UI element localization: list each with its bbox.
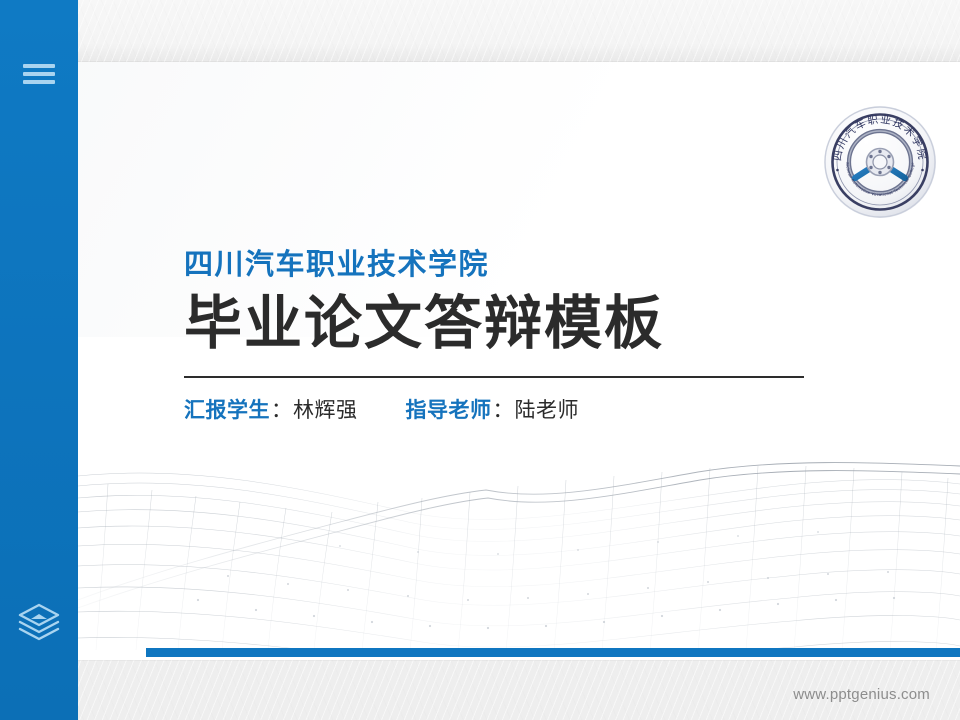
left-sidebar-rail xyxy=(0,0,78,720)
page-title: 毕业论文答辩模板 xyxy=(184,291,884,356)
credit-student-separator: ： xyxy=(271,398,292,423)
credit-advisor-value: 陆老师 xyxy=(515,398,580,423)
credit-advisor-label: 指导老师 xyxy=(406,398,492,423)
viewer-top-band xyxy=(0,0,960,63)
title-block: 四川汽车职业技术学院 毕业论文答辩模板 汇报学生 ： 林辉强 指导老师 ： 陆老… xyxy=(184,248,884,423)
hamburger-bar-3 xyxy=(23,80,55,84)
hamburger-bar-2 xyxy=(23,72,55,76)
title-divider xyxy=(184,376,804,378)
credits-row: 汇报学生 ： 林辉强 指导老师 ： 陆老师 xyxy=(184,398,884,423)
university-crest-icon: 四川汽车职业技术学院 Sichuan Automotive Vocational… xyxy=(822,104,938,220)
hamburger-menu-icon[interactable] xyxy=(23,61,55,87)
credit-student-value: 林辉强 xyxy=(293,398,358,423)
slide-bottom-accent-bar xyxy=(146,648,960,657)
credit-student: 汇报学生 ： 林辉强 xyxy=(184,398,358,423)
site-url-label: www.pptgenius.com xyxy=(793,686,930,703)
hamburger-bar-1 xyxy=(23,64,55,68)
credit-advisor: 指导老师 ： 陆老师 xyxy=(406,398,580,423)
credit-advisor-separator: ： xyxy=(493,398,514,423)
credit-student-label: 汇报学生 xyxy=(184,398,270,423)
presentation-viewer: 四川汽车职业技术学院 Sichuan Automotive Vocational… xyxy=(0,0,960,720)
school-name: 四川汽车职业技术学院 xyxy=(184,248,884,281)
slide-canvas: 四川汽车职业技术学院 Sichuan Automotive Vocational… xyxy=(78,62,960,660)
wireframe-mesh-decoration xyxy=(78,450,960,650)
layers-stack-icon[interactable] xyxy=(16,600,62,642)
